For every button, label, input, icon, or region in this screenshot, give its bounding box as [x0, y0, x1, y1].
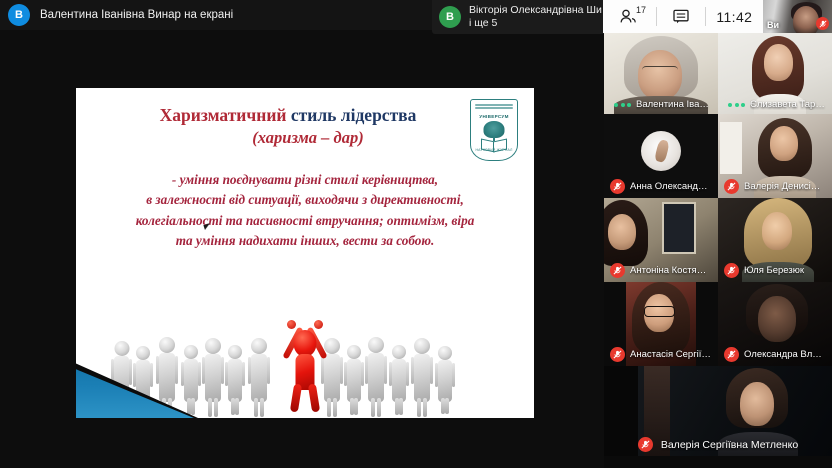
slide-body-line: та уміння надихати інших, вести за собою…	[90, 231, 520, 251]
participant-tile[interactable]: Єлизавета Тара…	[718, 30, 832, 114]
leader-crowd-illustration	[76, 266, 534, 416]
meeting-clock: 11:42	[706, 0, 763, 33]
participant-name: Анна Олександ…	[630, 181, 707, 192]
slide-title-word-navy: стиль лідерства	[287, 105, 417, 125]
participant-row: Валерія Сергіївна Метленко	[604, 366, 832, 456]
mic-muted-icon	[724, 263, 739, 278]
avatar	[641, 131, 681, 171]
participant-tile[interactable]: Антоніна Костя…	[604, 198, 718, 282]
leader-figure	[290, 314, 320, 410]
slide-subtitle: (харизма – дар)	[76, 127, 500, 149]
active-speaker-avatar: В	[439, 6, 461, 28]
chat-bubble-icon	[673, 9, 689, 24]
participant-tile[interactable]: Анастасія Сергії…	[604, 282, 718, 366]
speaking-dots-icon	[724, 103, 745, 107]
slide-body-text: - уміння поєднувати різні стилі керівниц…	[90, 170, 520, 252]
mic-muted-icon	[610, 347, 625, 362]
active-speaker-chip[interactable]: В Вікторія Олександрівна Ши… і ще 5	[432, 0, 604, 34]
participant-name: Валерія Денисі…	[744, 181, 820, 192]
participant-tile[interactable]: Олександра Вл…	[718, 282, 832, 366]
slide-body-line: - уміння поєднувати різні стилі керівниц…	[90, 170, 520, 190]
crest-word: УНІВЕРСУМ	[470, 114, 518, 119]
participants-count: 17	[636, 5, 646, 15]
shared-screen-stage[interactable]: Харизматичний стиль лідерства (харизма –…	[0, 30, 604, 468]
participant-sidebar[interactable]: Валентина Івані… Єлизавета Тара…	[604, 30, 832, 468]
presentation-slide: Харизматичний стиль лідерства (харизма –…	[76, 88, 534, 418]
participant-row: Валентина Івані… Єлизавета Тара…	[604, 30, 832, 114]
top-bar: В Валентина Іванівна Винар на екрані В В…	[0, 0, 832, 30]
participant-name: Антоніна Костя…	[630, 265, 706, 276]
slide-body-line: колегіальності та пасивності втручання; …	[90, 211, 520, 231]
participant-name: Анастасія Сергії…	[630, 349, 711, 360]
self-view-face	[793, 6, 819, 33]
participant-name: Валентина Івані…	[636, 99, 712, 110]
self-view-thumbnail[interactable]: Ви	[763, 0, 832, 33]
speaking-dots-icon	[610, 103, 631, 107]
participant-tile[interactable]: Валерія Денисі…	[718, 114, 832, 198]
host-status-chip: В Валентина Іванівна Винар на екрані	[8, 3, 233, 27]
participant-tile[interactable]: Валентина Івані…	[604, 30, 718, 114]
slide-body-line: в залежності від ситуації, виходячи з ди…	[90, 190, 520, 210]
participant-row: Анастасія Сергії… Олександра Вл…	[604, 282, 832, 366]
mic-muted-icon	[610, 263, 625, 278]
participant-row: Анна Олександ… Валерія Денисі…	[604, 114, 832, 198]
meeting-window: В Валентина Іванівна Винар на екрані В В…	[0, 0, 832, 468]
host-avatar: В	[8, 4, 30, 26]
participant-name: Олександра Вл…	[744, 349, 822, 360]
active-speaker-name: Вікторія Олександрівна Ши…	[469, 4, 612, 17]
participant-name: Юля Березюк	[744, 265, 804, 276]
participant-tile[interactable]: Валерія Сергіївна Метленко	[604, 366, 832, 456]
slide-title-word-red: Харизматичний	[160, 105, 287, 125]
meeting-controls: 17 11:42	[603, 0, 763, 33]
mic-muted-icon	[724, 179, 739, 194]
chat-button[interactable]	[657, 0, 704, 33]
university-crest-icon: УНІВЕРСУМ НАУКОВИЙ ЖУРНАЛ	[470, 99, 518, 161]
slide-title: Харизматичний стиль лідерства (харизма –…	[76, 104, 534, 149]
mic-muted-icon	[819, 20, 827, 28]
host-status-text: Валентина Іванівна Винар на екрані	[40, 9, 233, 21]
participant-name: Єлизавета Тара…	[750, 99, 826, 110]
participants-button[interactable]: 17	[603, 0, 656, 33]
self-view-label: Ви	[767, 20, 779, 30]
mic-muted-icon	[610, 179, 625, 194]
crest-subtext: НАУКОВИЙ ЖУРНАЛ	[470, 148, 518, 152]
mic-muted-icon	[724, 347, 739, 362]
participant-name: Валерія Сергіївна Метленко	[661, 439, 798, 451]
participant-tile[interactable]: Анна Олександ…	[604, 114, 718, 198]
participant-row: Антоніна Костя… Юля Березюк	[604, 198, 832, 282]
self-view-mute-badge	[816, 17, 829, 30]
mic-muted-icon	[638, 437, 653, 452]
participant-tile[interactable]: Юля Березюк	[718, 198, 832, 282]
active-speaker-more: і ще 5	[469, 17, 612, 30]
